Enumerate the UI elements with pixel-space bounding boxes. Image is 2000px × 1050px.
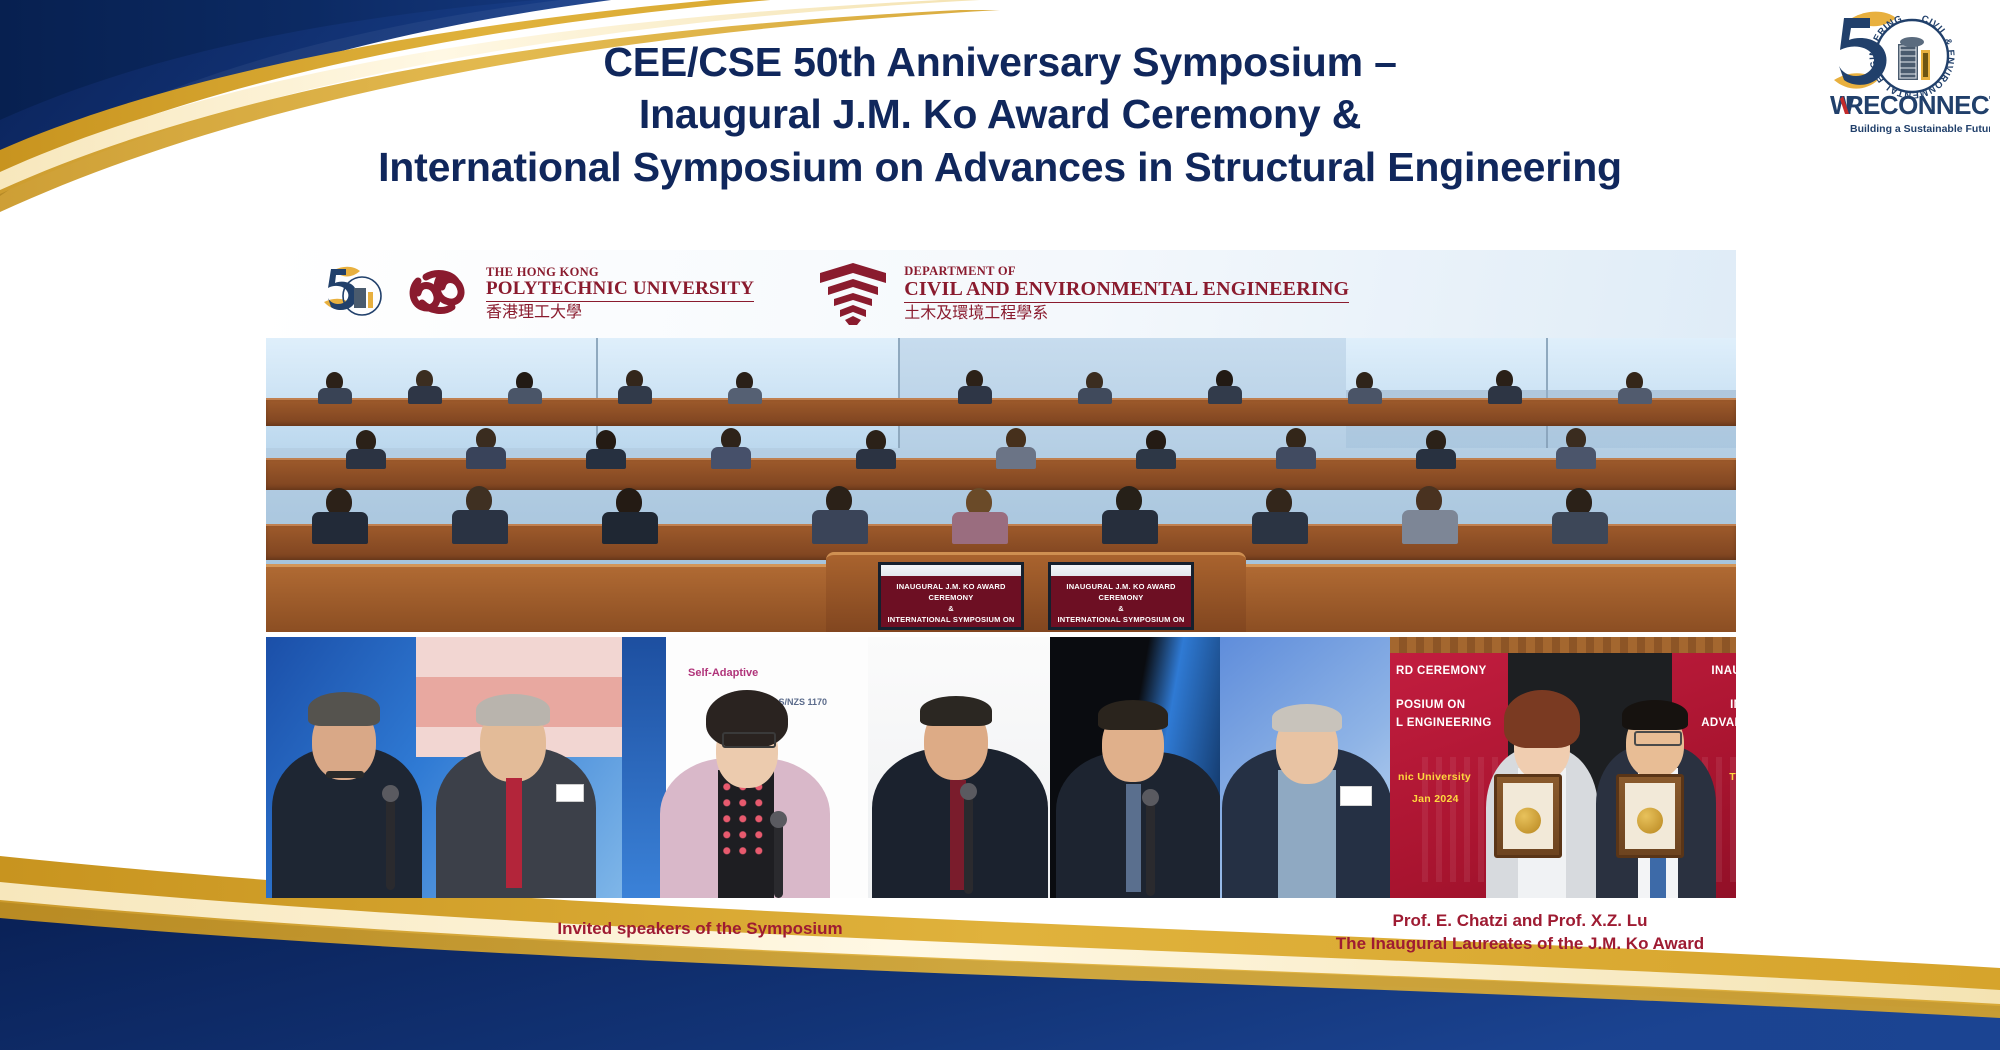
caption-right-line-2: The Inaugural Laureates of the J.M. Ko A…: [1280, 933, 1760, 956]
photo-collage: THE HONG KONG POLYTECHNIC UNIVERSITY 香港理…: [266, 250, 1736, 898]
podium-screen-right: INAUGURAL J.M. KO AWARD CEREMONY & INTER…: [1048, 562, 1194, 630]
podium2-line-2: &: [1118, 604, 1124, 613]
event-banner-header: THE HONG KONG POLYTECHNIC UNIVERSITY 香港理…: [266, 250, 1736, 338]
logo-tagline: Building a Sustainable Future: [1850, 123, 1990, 135]
dept-line-3-chinese: 土木及環境工程學系: [904, 306, 1349, 323]
polyu-knot-logo: [404, 263, 476, 325]
title-line-3: International Symposium on Advances in S…: [270, 141, 1730, 193]
backdrop-right-frag-3: ADVANCES IN: [1701, 717, 1736, 729]
slide-title: CEE/CSE 50th Anniversary Symposium – Ina…: [270, 36, 1730, 193]
presentation-slide: CEE/CSE 50th Anniversary Symposium – Ina…: [0, 0, 2000, 1050]
podium-line-1: INAUGURAL J.M. KO AWARD CEREMONY: [896, 582, 1005, 602]
speaker-photo-4: [1050, 637, 1220, 898]
award-wood-trim: [1390, 637, 1736, 653]
dept-chevron-logo: [814, 261, 892, 327]
speaker-photo-strip: Self-Adaptive AS/NZS 1170: [266, 637, 1736, 898]
group-photo-auditorium: THE HONG KONG POLYTECHNIC UNIVERSITY 香港理…: [266, 250, 1736, 632]
backdrop-left-gold-1: nic University: [1398, 771, 1471, 783]
auditorium-scene: INAUGURAL J.M. KO AWARD CEREMONY & INTER…: [266, 338, 1736, 632]
slide-text-self-adaptive: Self-Adaptive: [688, 667, 758, 679]
logo-wordmark-rest: RECONNECT: [1845, 90, 1990, 120]
dept-line-2: CIVIL AND ENVIRONMENTAL ENGINEERING: [904, 279, 1349, 303]
title-line-2: Inaugural J.M. Ko Award Ceremony &: [270, 88, 1730, 140]
podium-screen-left: INAUGURAL J.M. KO AWARD CEREMONY & INTER…: [878, 562, 1024, 630]
polyu-line-3-chinese: 香港理工大學: [486, 305, 754, 322]
backdrop-left-frag-1: RD CEREMONY: [1396, 665, 1487, 677]
banner-50th-icon: [318, 262, 382, 326]
caption-laureates: Prof. E. Chatzi and Prof. X.Z. Lu The In…: [1280, 910, 1760, 956]
backdrop-left-gold-2: Jan 2024: [1412, 793, 1459, 805]
caption-invited-speakers: Invited speakers of the Symposium: [420, 918, 980, 941]
polyu-name-block: THE HONG KONG POLYTECHNIC UNIVERSITY 香港理…: [486, 266, 754, 322]
polyu-line-2: POLYTECHNIC UNIVERSITY: [486, 279, 754, 302]
podium-line-2: &: [948, 604, 954, 613]
department-name-block: DEPARTMENT OF CIVIL AND ENVIRONMENTAL EN…: [904, 265, 1349, 322]
speaker-photo-3: [868, 637, 1050, 898]
backdrop-right-frag-2: INTERNA: [1730, 699, 1736, 711]
podium2-line-1: INAUGURAL J.M. KO AWARD CEREMONY: [1066, 582, 1175, 602]
podium2-line-4: ADVANCES IN STRUCTURAL ENGINEERING: [1067, 626, 1176, 630]
podium2-line-3: INTERNATIONAL SYMPOSIUM ON: [1057, 615, 1184, 624]
award-laureates-photo: RD CEREMONY POSIUM ON L ENGINEERING nic …: [1390, 637, 1736, 898]
caption-left-text: Invited speakers of the Symposium: [557, 919, 842, 938]
dept-line-1: DEPARTMENT OF: [904, 265, 1349, 278]
backdrop-right-frag-1: INAUGURAL: [1711, 665, 1736, 677]
cee-50th-reconnect-logo: CIVIL & ENVIRONMENTAL ENGINEERING W RECO…: [1800, 6, 1990, 141]
title-line-1: CEE/CSE 50th Anniversary Symposium –: [270, 36, 1730, 88]
podium-line-3: INTERNATIONAL SYMPOSIUM ON: [887, 615, 1014, 624]
logo-building-icon: [1898, 37, 1930, 80]
speaker-photo-2: Self-Adaptive AS/NZS 1170: [622, 637, 868, 898]
backdrop-right-gold-1: The Hong: [1729, 771, 1736, 783]
speaker-photo-5: [1220, 637, 1390, 898]
caption-right-line-1: Prof. E. Chatzi and Prof. X.Z. Lu: [1280, 910, 1760, 933]
backdrop-left-frag-3: L ENGINEERING: [1396, 717, 1492, 729]
speaker-photo-1: [266, 637, 622, 898]
backdrop-left-frag-2: POSIUM ON: [1396, 699, 1465, 711]
podium-line-4: ADVANCES IN STRUCTURAL ENGINEERING: [897, 626, 1006, 630]
